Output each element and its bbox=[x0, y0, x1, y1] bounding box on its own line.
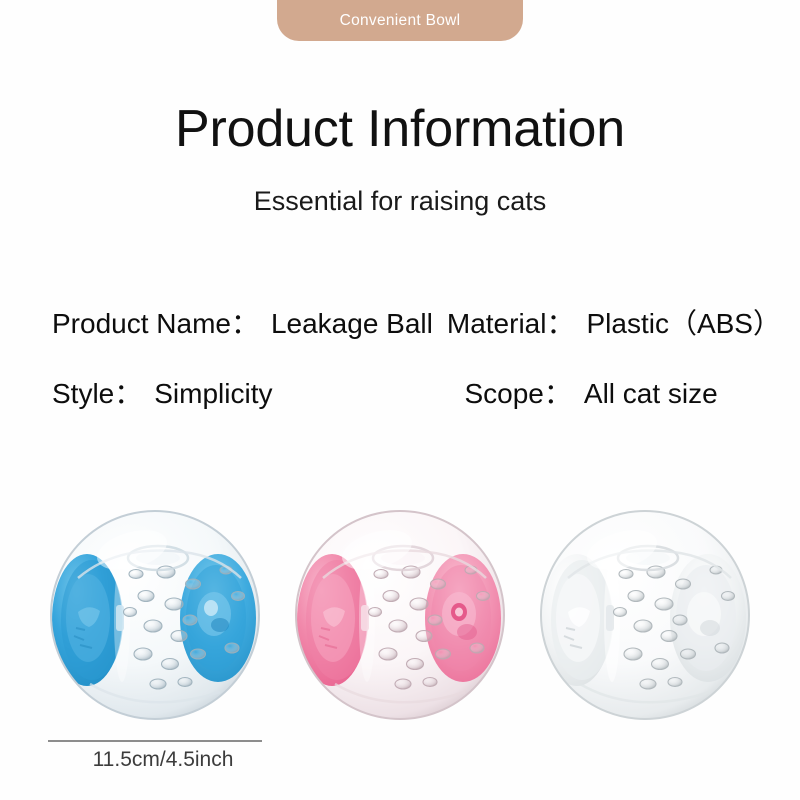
spec-material-value: Plastic（ABS） bbox=[586, 302, 781, 342]
spec-product-name-value: Leakage Ball bbox=[271, 308, 433, 340]
product-image-row bbox=[0, 500, 800, 735]
spec-style-value: Simplicity bbox=[154, 378, 272, 410]
spec-product-name: Product Name： Leakage Ball bbox=[52, 302, 433, 342]
measurement-label: 11.5cm/4.5inch bbox=[48, 748, 278, 772]
spec-product-name-key: Product Name： bbox=[52, 302, 259, 342]
spec-material-key: Material： bbox=[447, 302, 575, 342]
page-title: Product Information bbox=[0, 103, 800, 155]
spec-style: Style： Simplicity bbox=[52, 372, 272, 412]
spec-scope: Scope： All cat size bbox=[464, 372, 717, 412]
spec-row-style-scope: Style： Simplicity Scope： All cat size bbox=[0, 372, 800, 412]
badge-label: Convenient Bowl bbox=[340, 12, 461, 30]
measurement-line bbox=[48, 740, 262, 742]
convenient-bowl-badge: Convenient Bowl bbox=[277, 0, 523, 41]
ball-svg-pink bbox=[293, 508, 507, 722]
spec-style-key: Style： bbox=[52, 372, 142, 412]
ball-svg-clear bbox=[538, 508, 752, 722]
product-image-leakage-ball-pink[interactable] bbox=[293, 508, 507, 722]
spec-scope-value: All cat size bbox=[584, 378, 718, 410]
product-image-leakage-ball-blue[interactable] bbox=[48, 508, 262, 722]
spec-row-product-material: Product Name： Leakage Ball Material： Pla… bbox=[0, 302, 800, 342]
spec-material: Material： Plastic（ABS） bbox=[447, 302, 781, 342]
ball-svg-blue bbox=[48, 508, 262, 722]
spec-scope-key: Scope： bbox=[464, 372, 571, 412]
product-image-leakage-ball-clear[interactable] bbox=[538, 508, 752, 722]
page-subtitle: Essential for raising cats bbox=[0, 188, 800, 215]
